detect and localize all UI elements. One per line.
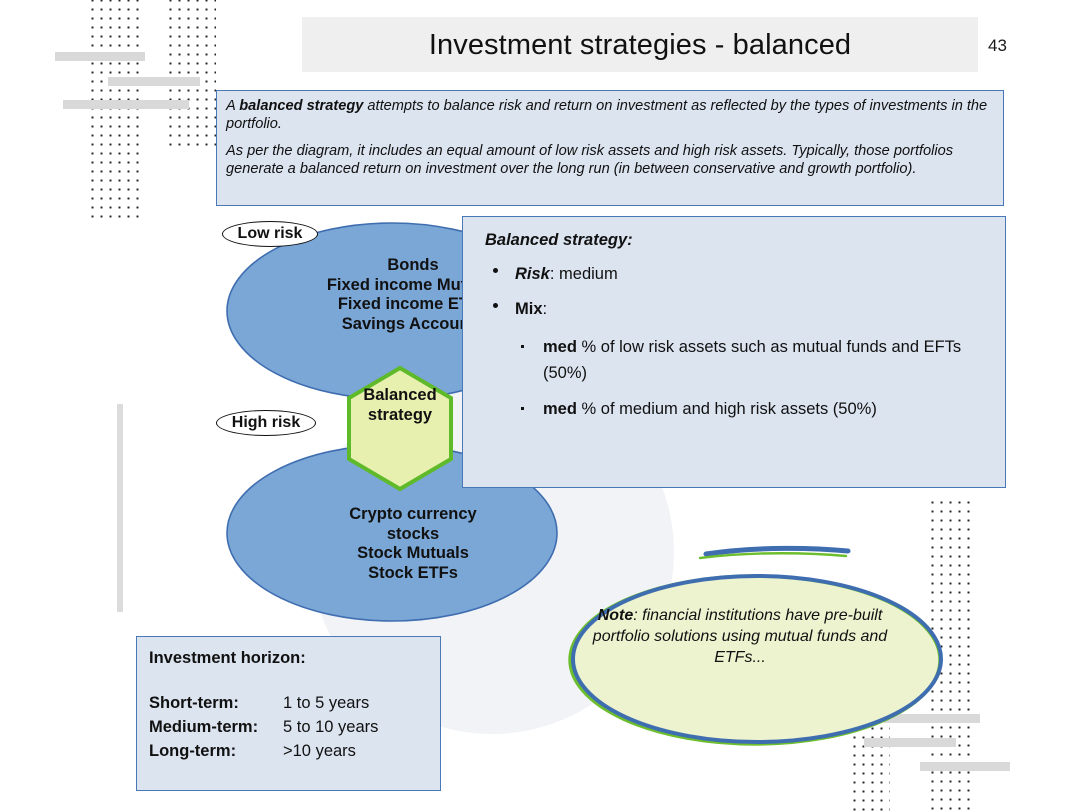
strategy-bullet-risk: Risk: medium (485, 264, 987, 284)
mix-colon: : (543, 300, 548, 318)
note-ink-flourish (706, 548, 848, 554)
table-row: Medium-term: 5 to 10 years (149, 718, 378, 742)
hexagon-label: Balanced strategy (330, 385, 470, 425)
strategy-bullet-mix: Mix: (485, 299, 987, 319)
badge-high-risk: High risk (216, 410, 316, 436)
table-row: Long-term: >10 years (149, 742, 378, 766)
decor-vertical-line (117, 404, 123, 612)
table-row: Short-term: 1 to 5 years (149, 694, 378, 718)
horizon-label-short: Short-term: (149, 694, 279, 718)
balanced-strategy-panel: Balanced strategy: Risk: medium Mix: med… (462, 216, 1006, 488)
risk-label: Risk (515, 265, 550, 283)
horizon-value-medium: 5 to 10 years (279, 718, 378, 742)
decor-dots-top-left-b (166, 0, 216, 148)
intro-p1-lead: A (226, 98, 239, 114)
risk-value: medium (559, 265, 618, 283)
decor-bar-tl-1 (55, 52, 145, 61)
intro-paragraph-2: As per the diagram, it includes an equal… (226, 143, 994, 178)
risk-colon: : (550, 265, 559, 283)
note-bold: Note (598, 607, 634, 624)
decor-bar-br-3 (920, 762, 1010, 771)
subitem-2-rest: % of medium and high risk assets (50%) (577, 400, 877, 418)
decor-bar-tl-3 (63, 100, 189, 109)
subitem-2-bold: med (543, 400, 577, 418)
horizon-title: Investment horizon: (149, 649, 440, 668)
intro-p1-bold: balanced strategy (239, 98, 363, 114)
high-risk-assets-label: Crypto currency stocks Stock Mutuals Sto… (248, 505, 578, 583)
horizon-table: Short-term: 1 to 5 years Medium-term: 5 … (149, 694, 378, 766)
horizon-label-long: Long-term: (149, 742, 279, 766)
note-rest: : financial institutions have pre-built … (593, 607, 887, 666)
decor-dots-top-left-a (88, 0, 144, 218)
strategy-subitem-2: med % of medium and high risk assets (50… (485, 396, 987, 422)
mix-label: Mix (515, 300, 543, 318)
note-ink-flourish-green (700, 553, 846, 558)
strategy-heading: Balanced strategy: (485, 231, 987, 250)
investment-horizon-panel: Investment horizon: Short-term: 1 to 5 y… (136, 636, 441, 791)
decor-bar-tl-2 (108, 77, 200, 86)
badge-low-risk: Low risk (222, 221, 318, 247)
strategy-subitem-1: med % of low risk assets such as mutual … (485, 334, 987, 386)
subitem-1-bold: med (543, 338, 577, 356)
horizon-value-short: 1 to 5 years (279, 694, 378, 718)
page-title: Investment strategies - balanced (302, 23, 978, 68)
slide-canvas: Investment strategies - balanced 43 A ba… (0, 0, 1080, 812)
intro-paragraph-1: A balanced strategy attempts to balance … (226, 98, 994, 133)
horizon-label-medium: Medium-term: (149, 718, 279, 742)
intro-panel: A balanced strategy attempts to balance … (216, 90, 1004, 206)
decor-bar-br-2 (864, 738, 956, 747)
page-number: 43 (988, 36, 1007, 56)
subitem-1-rest: % of low risk assets such as mutual fund… (543, 338, 961, 382)
decor-bar-br-1 (884, 714, 980, 723)
horizon-value-long: >10 years (279, 742, 378, 766)
note-callout-text: Note: financial institutions have pre-bu… (590, 605, 890, 668)
